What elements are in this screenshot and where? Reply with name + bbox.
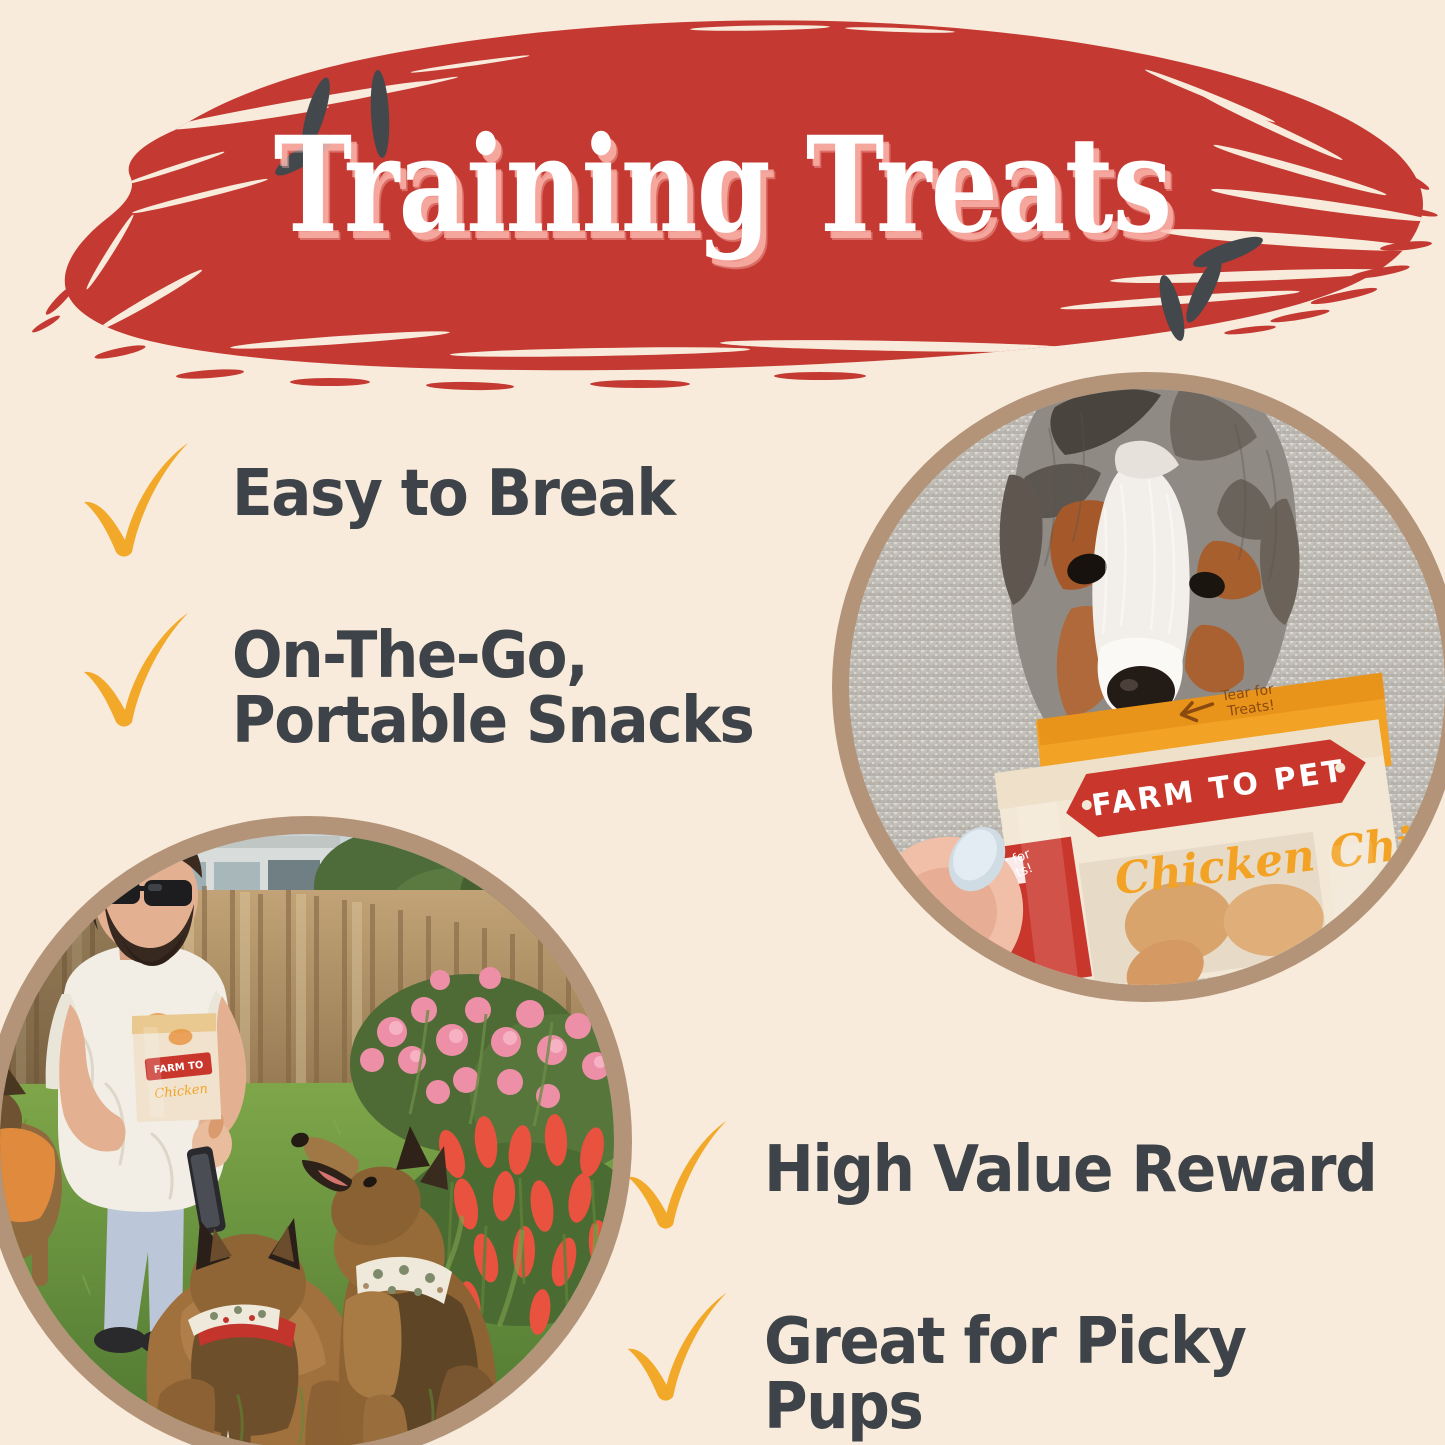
brush-stroke-graphic bbox=[0, 0, 1445, 400]
checkmark-icon bbox=[78, 440, 196, 558]
checkmark-icon bbox=[622, 1290, 734, 1402]
benefit-label: On-The-Go, Portable Snacks bbox=[232, 624, 753, 755]
benefit-label: High Value Reward bbox=[764, 1138, 1376, 1203]
photo-puppy-with-package: FARM TO PET Chicken Chips Tear for Treat… bbox=[832, 372, 1445, 1002]
header-banner: Training Treats bbox=[0, 0, 1445, 400]
benefit-label: Easy to Break bbox=[232, 462, 675, 527]
photo-backyard-training: FARM TO Chicken bbox=[0, 816, 632, 1445]
sunglasses bbox=[104, 880, 192, 906]
held-treat-bag: FARM TO Chicken bbox=[126, 1007, 227, 1128]
benefit-item-high-value-reward: High Value Reward bbox=[622, 1118, 1422, 1230]
puppy-photo-illustration: FARM TO PET Chicken Chips Tear for Treat… bbox=[849, 389, 1445, 985]
photo-image: FARM TO Chicken bbox=[0, 834, 614, 1445]
benefit-item-picky-pups: Great for Picky Pups bbox=[622, 1290, 1445, 1441]
photo-image: FARM TO PET Chicken Chips Tear for Treat… bbox=[849, 389, 1445, 985]
backyard-training-illustration: FARM TO Chicken bbox=[0, 834, 614, 1445]
benefit-label: Great for Picky Pups bbox=[764, 1310, 1397, 1441]
benefit-item-easy-to-break: Easy to Break bbox=[78, 440, 708, 558]
poster-canvas: Training Treats Easy to Break On-The-Go,… bbox=[0, 0, 1445, 1445]
benefit-item-on-the-go: On-The-Go, Portable Snacks bbox=[78, 610, 793, 755]
checkmark-icon bbox=[622, 1118, 734, 1230]
checkmark-icon bbox=[78, 610, 196, 728]
